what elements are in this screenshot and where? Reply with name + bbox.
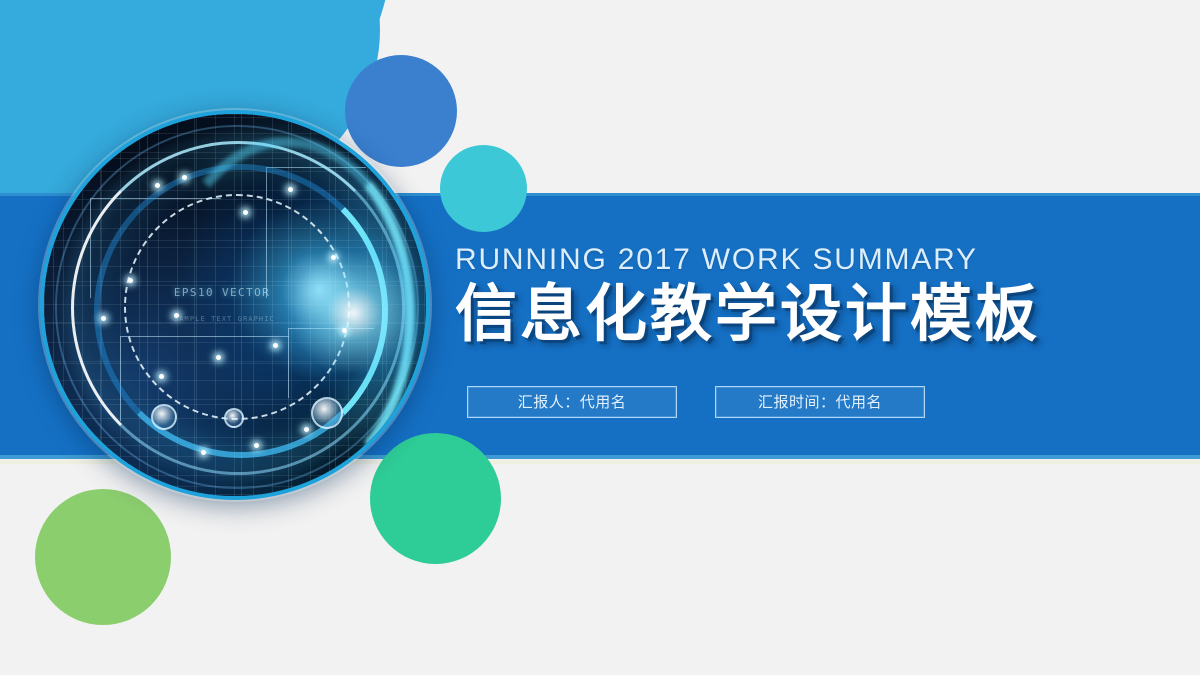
hero-tech-circle-image: EPS10 VECTOR SAMPLE TEXT GRAPHIC <box>40 110 430 500</box>
subtitle-english: RUNNING 2017 WORK SUMMARY <box>455 243 1155 276</box>
decor-teal-circle <box>440 145 527 232</box>
hero-caption-subtext: SAMPLE TEXT GRAPHIC <box>174 315 275 323</box>
hero-node <box>311 397 343 429</box>
page-title: 信息化教学设计模板 <box>455 280 1155 349</box>
hero-image-inner: EPS10 VECTOR SAMPLE TEXT GRAPHIC <box>44 114 426 496</box>
hero-node <box>224 408 244 428</box>
decor-green-circle <box>35 489 171 625</box>
hero-caption-text: EPS10 VECTOR <box>174 286 270 299</box>
presenter-field[interactable]: 汇报人：代用名 <box>467 386 677 418</box>
meta-row: 汇报人：代用名 汇报时间：代用名 <box>467 386 925 418</box>
hero-light-flare <box>266 229 426 397</box>
report-time-field[interactable]: 汇报时间：代用名 <box>715 386 925 418</box>
title-block: RUNNING 2017 WORK SUMMARY 信息化教学设计模板 <box>455 243 1155 349</box>
presentation-slide: EPS10 VECTOR SAMPLE TEXT GRAPHIC RUNNING… <box>0 0 1200 675</box>
